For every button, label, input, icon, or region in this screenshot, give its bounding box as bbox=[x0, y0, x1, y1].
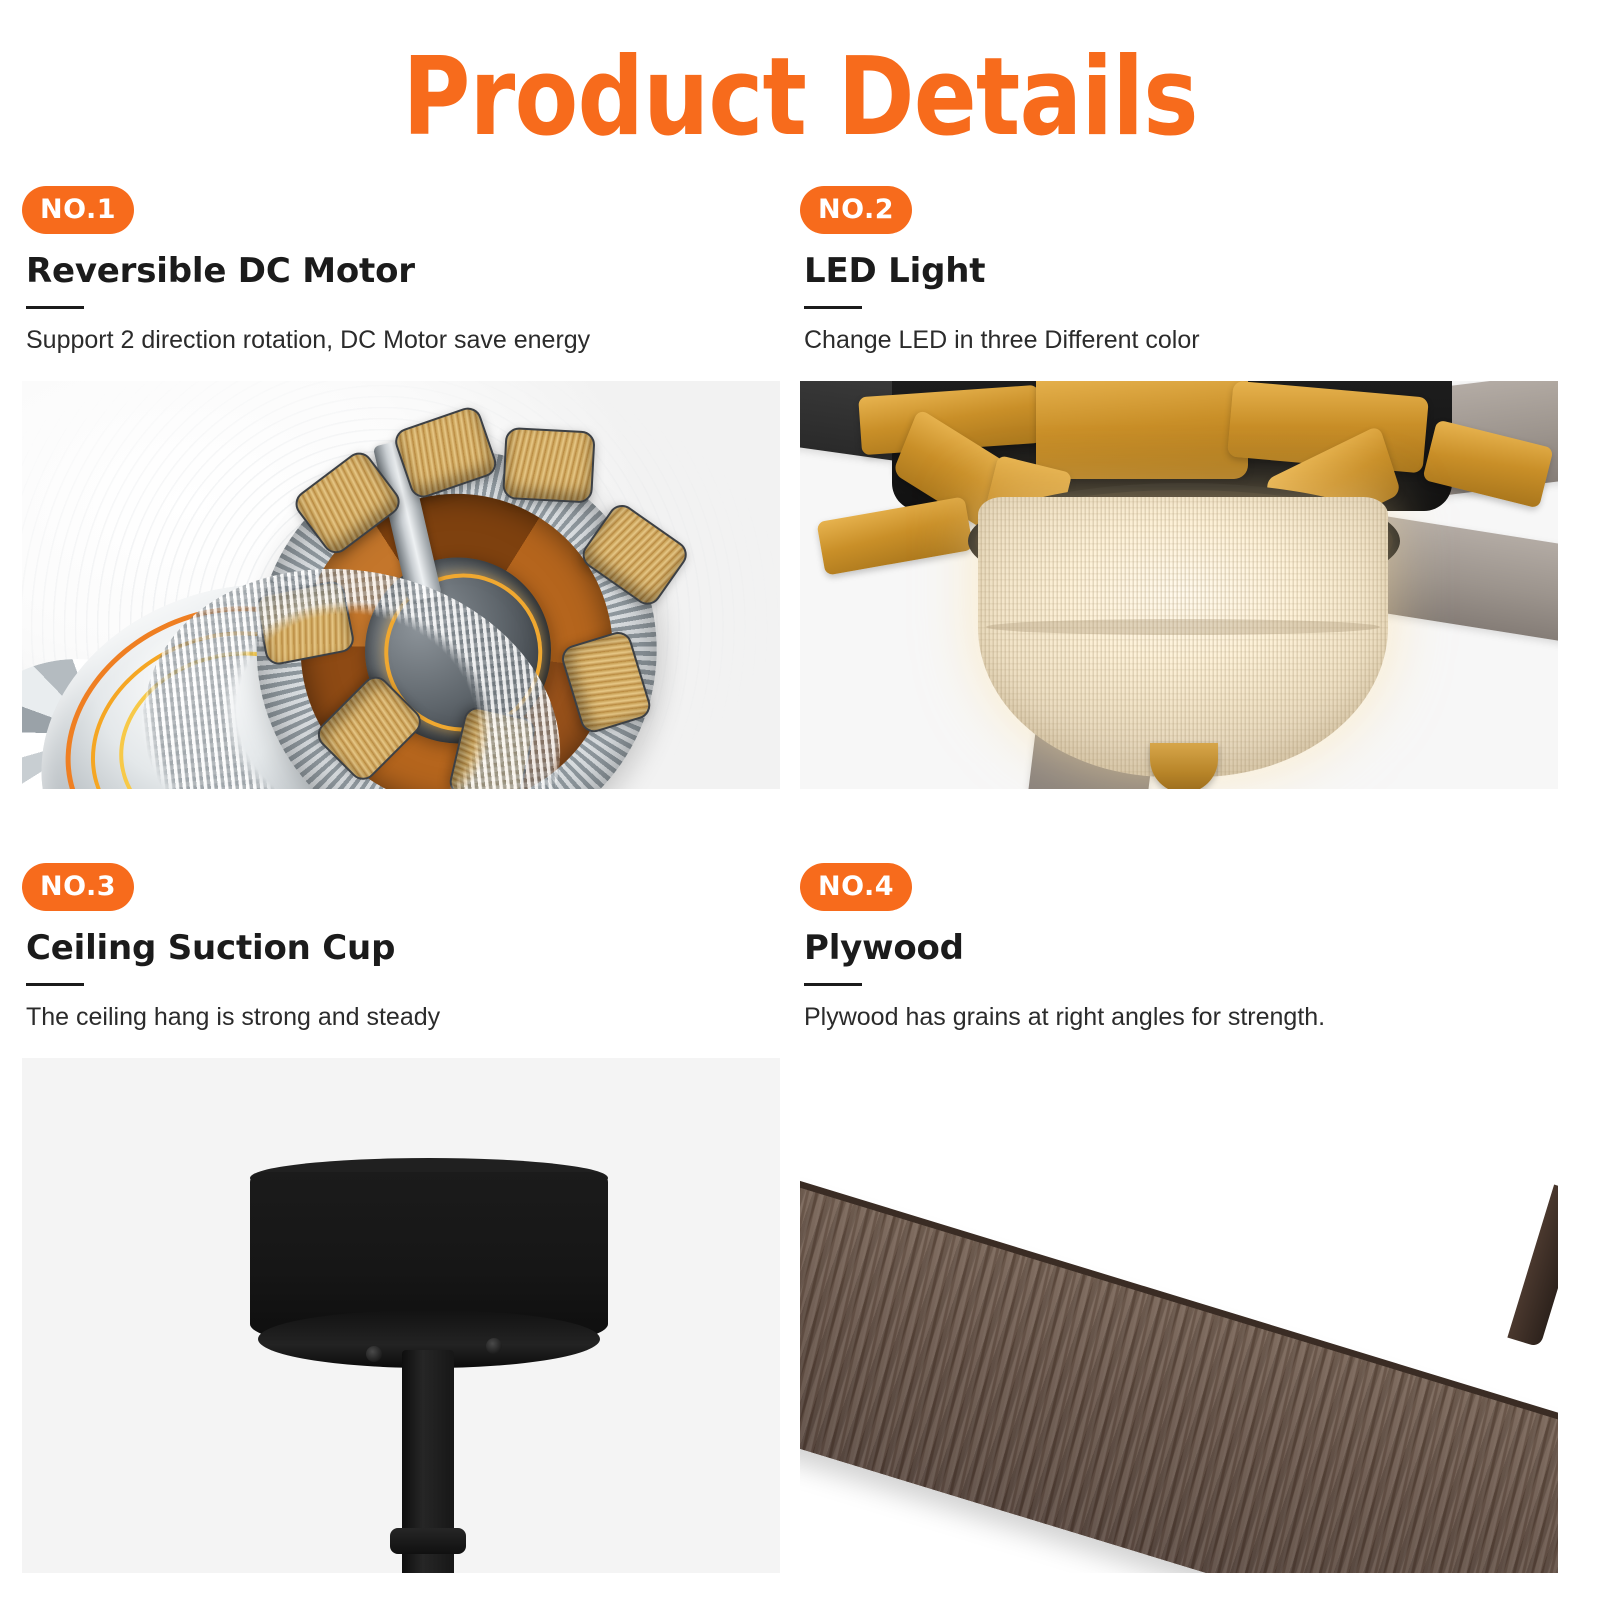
canopy-screw bbox=[366, 1346, 382, 1362]
feature-badge-1: NO.1 bbox=[22, 186, 134, 234]
plywood-blade-photo bbox=[800, 1058, 1558, 1573]
features-grid: NO.1 Reversible DC Motor Support 2 direc… bbox=[0, 186, 1600, 1573]
title-divider-3 bbox=[26, 983, 84, 986]
feature-badge-4: NO.4 bbox=[800, 863, 912, 911]
dc-motor-photo bbox=[22, 381, 780, 789]
feature-badge-2: NO.2 bbox=[800, 186, 912, 234]
title-divider-1 bbox=[26, 306, 84, 309]
feature-title-1: Reversible DC Motor bbox=[26, 253, 782, 290]
gold-blade-arm bbox=[1036, 381, 1248, 479]
led-dome-ridge bbox=[986, 619, 1380, 635]
feature-card-3: NO.3 Ceiling Suction Cup The ceiling han… bbox=[22, 863, 782, 1573]
feature-card-2: NO.2 LED Light Change LED in three Diffe… bbox=[800, 186, 1560, 789]
led-light-photo bbox=[800, 381, 1558, 789]
title-divider-2 bbox=[804, 306, 862, 309]
led-gold-finial bbox=[1150, 743, 1218, 789]
feature-badge-3: NO.3 bbox=[22, 863, 134, 911]
canopy-screw bbox=[486, 1338, 502, 1354]
title-divider-4 bbox=[804, 983, 862, 986]
feature-title-3: Ceiling Suction Cup bbox=[26, 930, 782, 967]
ceiling-suction-cup-photo bbox=[22, 1058, 780, 1573]
feature-card-1: NO.1 Reversible DC Motor Support 2 direc… bbox=[22, 186, 782, 789]
downrod-collar bbox=[390, 1528, 466, 1554]
feature-description-2: Change LED in three Different color bbox=[804, 323, 1444, 359]
feature-description-1: Support 2 direction rotation, DC Motor s… bbox=[26, 323, 666, 359]
feature-title-2: LED Light bbox=[804, 253, 1560, 290]
feature-description-3: The ceiling hang is strong and steady bbox=[26, 1000, 666, 1036]
led-glass-dome bbox=[978, 497, 1388, 777]
page-title: Product Details bbox=[112, 0, 1488, 152]
feature-title-4: Plywood bbox=[804, 930, 1560, 967]
feature-card-4: NO.4 Plywood Plywood has grains at right… bbox=[800, 863, 1560, 1573]
motor-coil bbox=[502, 427, 596, 504]
feature-description-4: Plywood has grains at right angles for s… bbox=[804, 1000, 1444, 1036]
product-details-page: Product Details NO.1 Reversible DC Motor… bbox=[0, 0, 1600, 1600]
